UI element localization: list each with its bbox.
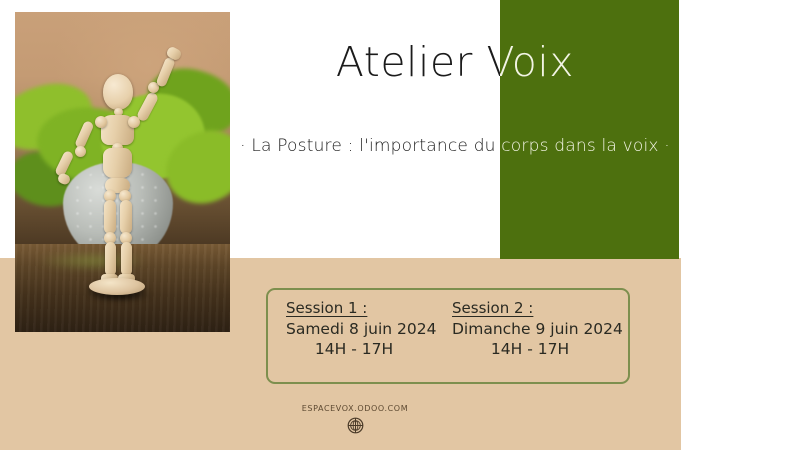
session-1-heading: Session 1 :: [286, 299, 444, 317]
session-2: Session 2 : Dimanche 9 juin 2024 14H - 1…: [444, 299, 612, 358]
mannequin-shoulder-right: [128, 116, 140, 128]
mannequin-thigh-right: [120, 200, 132, 234]
globe-crosshair-icon: [346, 416, 365, 435]
mannequin-shoulder-left: [95, 116, 107, 128]
mannequin-upper-arm-right: [136, 91, 160, 123]
mannequin-thigh-left: [104, 200, 116, 234]
poster-canvas: Atelier Voix Atelier Voix · La Posture :…: [0, 0, 800, 450]
mannequin-shin-left: [105, 242, 116, 276]
mannequin-elbow-left: [75, 146, 86, 157]
footer: ESPACEVOX.ODOO.COM: [255, 404, 455, 435]
session-1-time: 14H - 17H: [286, 340, 444, 358]
mannequin-upper-arm-left: [74, 120, 95, 150]
mannequin-shin-right: [121, 242, 132, 276]
session-2-heading: Session 2 :: [452, 299, 612, 317]
mannequin-photo: [15, 12, 230, 332]
website-url[interactable]: ESPACEVOX.ODOO.COM: [255, 404, 455, 413]
mannequin-forearm-right: [155, 56, 176, 88]
session-2-time: 14H - 17H: [452, 340, 612, 358]
session-1-date: Samedi 8 juin 2024: [286, 320, 444, 338]
mannequin-base-disc: [89, 278, 145, 295]
green-background-band: [500, 0, 679, 259]
wooden-mannequin: [15, 12, 230, 332]
session-2-date: Dimanche 9 juin 2024: [452, 320, 612, 338]
session-1: Session 1 : Samedi 8 juin 2024 14H - 17H: [286, 299, 444, 358]
mannequin-head: [103, 74, 133, 110]
mannequin-lower-torso: [103, 148, 132, 178]
sessions-box: Session 1 : Samedi 8 juin 2024 14H - 17H…: [266, 288, 630, 384]
mannequin-hand-left: [57, 172, 72, 186]
